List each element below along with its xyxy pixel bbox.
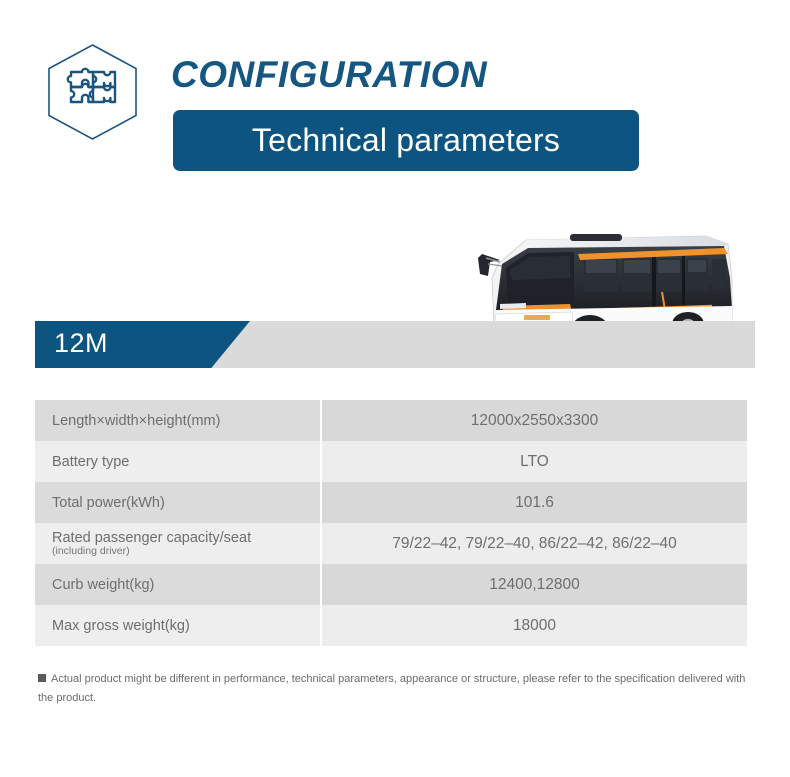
cell-label: Rated passenger capacity/seat (including…: [35, 523, 321, 564]
spec-table: Length×width×height(mm) 12000x2550x3300 …: [35, 400, 747, 646]
table-row: Curb weight(kg) 12400,12800: [35, 564, 747, 605]
cell-value: 101.6: [321, 482, 747, 523]
model-band: 12M: [35, 321, 755, 368]
model-label: 12M: [54, 328, 108, 359]
cell-value: 12400,12800: [321, 564, 747, 605]
cell-value: LTO: [321, 441, 747, 482]
table-row: Total power(kWh) 101.6: [35, 482, 747, 523]
cell-label: Battery type: [35, 441, 321, 482]
cell-value: 79/22–42, 79/22–40, 86/22–42, 86/22–40: [321, 523, 747, 564]
cell-label: Length×width×height(mm): [35, 400, 321, 441]
subtitle-banner: Technical parameters: [173, 110, 639, 171]
table-row: Rated passenger capacity/seat (including…: [35, 523, 747, 564]
label-main: Max gross weight(kg): [52, 618, 190, 634]
spec-table-body: Length×width×height(mm) 12000x2550x3300 …: [35, 400, 747, 646]
footnote-text: Actual product might be different in per…: [38, 673, 745, 704]
square-bullet-icon: [38, 674, 46, 682]
table-row: Max gross weight(kg) 18000: [35, 605, 747, 646]
subtitle-text: Technical parameters: [252, 122, 560, 159]
puzzle-hexagon-icon: [45, 42, 140, 142]
label-main: Battery type: [52, 454, 129, 470]
label-main: Curb weight(kg): [52, 577, 154, 593]
cell-label: Max gross weight(kg): [35, 605, 321, 646]
label-main: Total power(kWh): [52, 495, 165, 511]
cell-value: 12000x2550x3300: [321, 400, 747, 441]
label-main: Length×width×height(mm): [52, 413, 220, 429]
label-main: Rated passenger capacity/seat: [52, 530, 251, 546]
page-title: CONFIGURATION: [171, 54, 487, 96]
cell-label: Total power(kWh): [35, 482, 321, 523]
page-header: CONFIGURATION Technical parameters: [0, 0, 790, 200]
table-row: Battery type LTO: [35, 441, 747, 482]
footnote: Actual product might be different in per…: [38, 670, 754, 709]
cell-value: 18000: [321, 605, 747, 646]
table-row: Length×width×height(mm) 12000x2550x3300: [35, 400, 747, 441]
cell-label: Curb weight(kg): [35, 564, 321, 605]
label-sublabel: (including driver): [52, 545, 320, 557]
